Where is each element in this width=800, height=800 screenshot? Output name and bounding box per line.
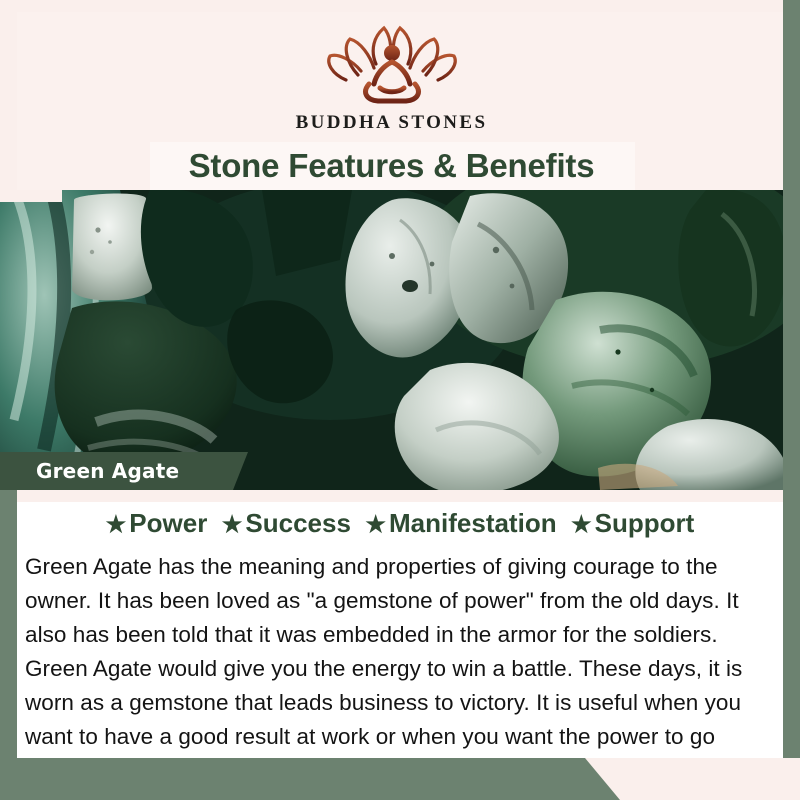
- lotus-meditation-icon: [312, 18, 472, 110]
- feature-item-power: ★Power: [106, 506, 208, 541]
- star-icon: ★: [222, 511, 243, 537]
- bottom-band-green-wedge: [0, 758, 620, 800]
- hero-photo: [0, 190, 783, 490]
- green-agate-stones-image: [0, 190, 783, 490]
- right-border-rail: [783, 0, 800, 758]
- feature-item-manifestation: ★Manifestation: [365, 506, 556, 541]
- stone-name-label: Green Agate: [36, 452, 179, 490]
- bottom-band: [0, 758, 800, 800]
- card-top-strip: [17, 490, 783, 502]
- star-icon: ★: [106, 511, 127, 537]
- page-title: Stone Features & Benefits: [0, 140, 783, 192]
- feature-label: Manifestation: [389, 508, 557, 538]
- star-icon: ★: [571, 511, 592, 537]
- star-icon: ★: [365, 511, 386, 537]
- photo-left-gutter: [0, 190, 62, 202]
- brand-name: BUDDHA STONES: [0, 112, 783, 134]
- feature-item-support: ★Support: [571, 506, 694, 541]
- stone-info-poster: BUDDHA STONES Stone Features & Benefits: [0, 0, 800, 800]
- feature-list: ★Power ★Success ★Manifestation ★Support: [17, 506, 783, 541]
- feature-label: Power: [129, 508, 207, 538]
- brand-logo: BUDDHA STONES: [0, 18, 783, 134]
- feature-label: Success: [245, 508, 351, 538]
- left-border-rail: [0, 490, 17, 760]
- stone-description: Green Agate has the meaning and properti…: [25, 550, 777, 788]
- feature-item-success: ★Success: [222, 506, 351, 541]
- content-card: ★Power ★Success ★Manifestation ★Support …: [17, 490, 783, 760]
- feature-label: Support: [595, 508, 695, 538]
